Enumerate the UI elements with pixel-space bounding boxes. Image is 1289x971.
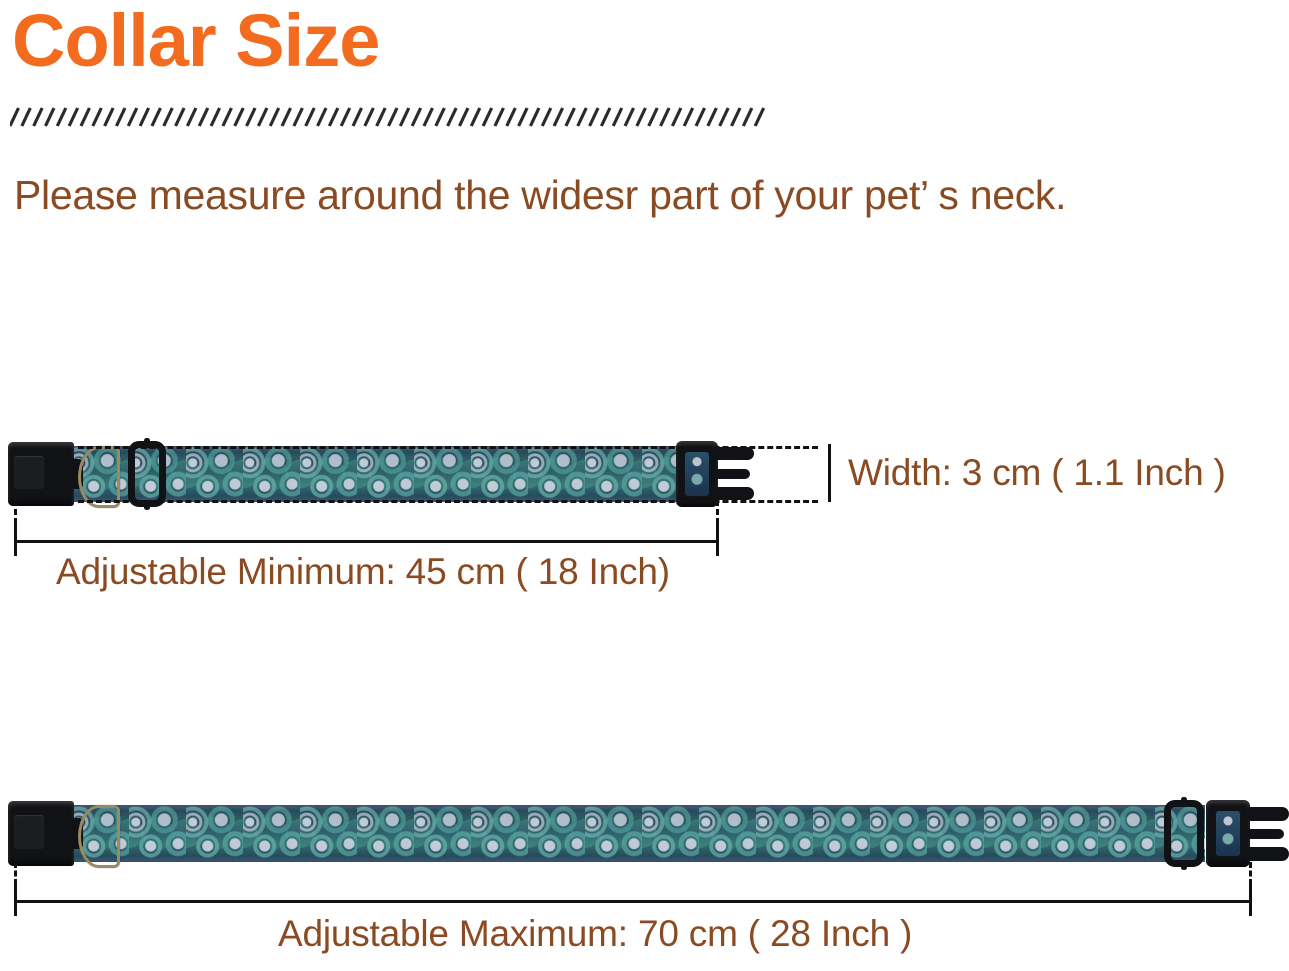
buckle-prong-bottom-maximum — [1248, 847, 1289, 861]
buckle-prong-top-maximum — [1248, 807, 1289, 821]
collar-size-infographic: Collar Size Please measure around the wi… — [0, 0, 1289, 971]
width-arrow-line — [828, 444, 831, 502]
label-adjustable-maximum: Adjustable Maximum: 70 cm ( 28 Inch ) — [278, 913, 912, 955]
d-ring-maximum — [78, 805, 120, 868]
dim-line-minimum — [14, 540, 719, 543]
strap-maximum — [72, 805, 1205, 862]
d-ring-minimum — [78, 446, 120, 508]
page-title: Collar Size — [12, 2, 379, 80]
dim-tick-right-maximum — [1249, 884, 1252, 916]
width-box-bottom-edge — [78, 500, 818, 503]
dim-tick-right-minimum — [716, 524, 719, 556]
width-label: Width: 3 cm ( 1.1 Inch ) — [848, 452, 1226, 494]
collar-minimum — [0, 446, 760, 502]
diagonal-slash-divider — [10, 104, 767, 130]
buckle-prong-bottom-minimum — [716, 487, 754, 500]
buckle-window-maximum — [1216, 811, 1241, 857]
buckle-female-maximum — [1206, 800, 1250, 867]
slider-adjuster-minimum — [128, 441, 166, 507]
slider-adjuster-maximum — [1164, 800, 1204, 867]
dim-tick-left-maximum — [14, 884, 17, 916]
buckle-male-maximum — [8, 801, 74, 866]
width-box-top-edge — [78, 446, 818, 449]
buckle-prong-middle-minimum — [716, 469, 750, 479]
collar-maximum — [0, 805, 1289, 862]
buckle-male-minimum — [8, 442, 74, 506]
buckle-female-minimum — [676, 441, 718, 507]
buckle-prong-middle-maximum — [1248, 829, 1284, 839]
buckle-window-minimum — [685, 452, 709, 497]
dim-tick-left-minimum — [14, 524, 17, 556]
dim-line-maximum — [14, 900, 1252, 903]
instruction-text: Please measure around the widesr part of… — [14, 172, 1066, 219]
label-adjustable-minimum: Adjustable Minimum: 45 cm ( 18 Inch) — [56, 551, 670, 593]
